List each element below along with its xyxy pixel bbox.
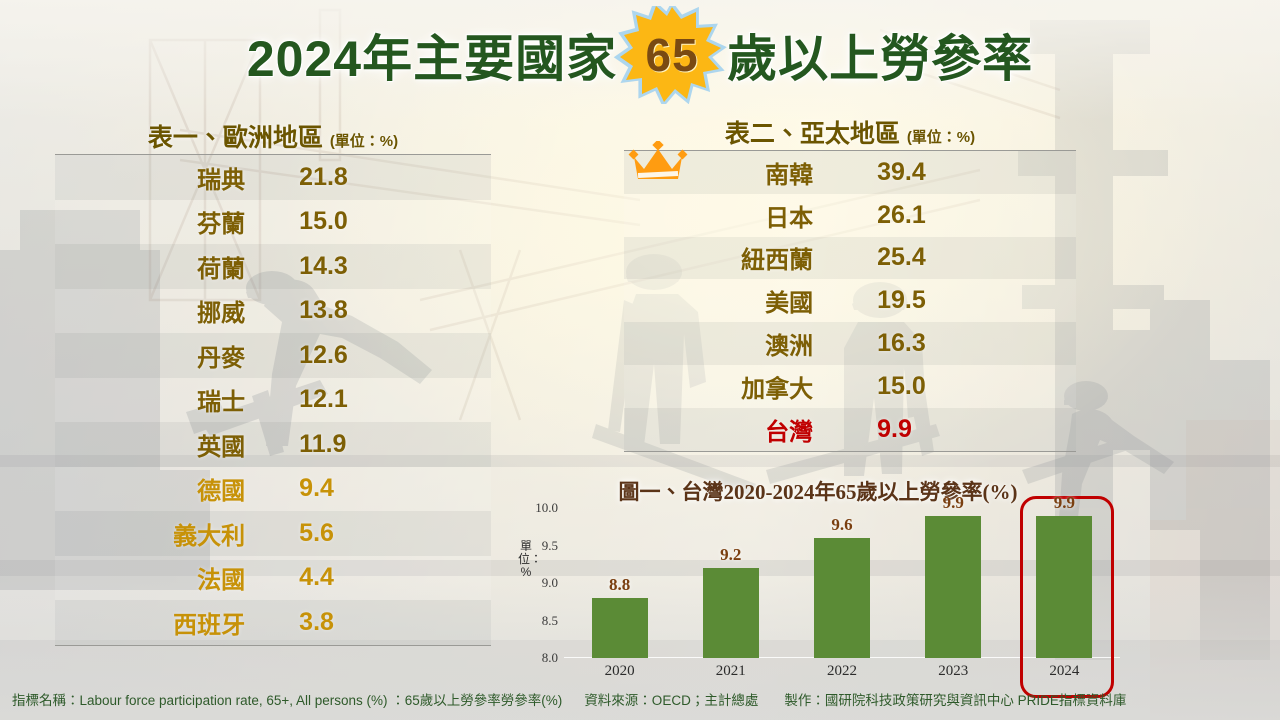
country-value: 16.3 <box>823 329 1076 358</box>
chart-bar <box>592 598 648 658</box>
chart-x-tick: 2023 <box>938 663 968 680</box>
country-name: 英國 <box>55 427 255 462</box>
country-value: 15.0 <box>823 372 1076 401</box>
country-value: 12.6 <box>255 341 491 370</box>
chart-bar-group: 9.92024 <box>1009 508 1120 658</box>
table-row: 台灣9.9 <box>624 408 1076 451</box>
country-value: 19.5 <box>823 286 1076 315</box>
country-name: 義大利 <box>55 516 255 551</box>
table-row: 挪威13.8 <box>55 289 491 334</box>
chart-bar-group: 9.22021 <box>675 508 786 658</box>
table-row: 丹麥12.6 <box>55 333 491 378</box>
table-europe-unit: (單位：%) <box>330 133 398 150</box>
table-asia-title: 表二、亞太地區 (單位：%) <box>624 114 1076 150</box>
chart-bar <box>1036 516 1092 659</box>
chart-x-tick: 2020 <box>605 663 635 680</box>
country-value: 9.4 <box>255 474 491 503</box>
country-value: 26.1 <box>823 201 1076 230</box>
table-row: 法國4.4 <box>55 556 491 601</box>
chart-y-tick: 8.5 <box>542 613 558 629</box>
chart-bar-group: 9.92023 <box>898 508 1009 658</box>
footer-producer: 製作：國研院科技政策研究與資訊中心 PRIDE指標資料庫 <box>784 689 1126 709</box>
country-name: 荷蘭 <box>55 249 255 284</box>
chart-bar <box>703 568 759 658</box>
table-row: 荷蘭14.3 <box>55 244 491 289</box>
country-name: 台灣 <box>624 412 823 447</box>
page-title: 2024年主要國家 65 歲以上勞參率 <box>247 6 1033 104</box>
country-name: 紐西蘭 <box>624 240 823 275</box>
chart-title: 圖一、台灣2020-2024年65歲以上勞參率(%) <box>508 476 1128 506</box>
country-name: 芬蘭 <box>55 204 255 239</box>
table-asia-unit: (單位：%) <box>907 129 975 146</box>
chart-bar-value-label: 9.9 <box>1054 493 1075 513</box>
country-name: 挪威 <box>55 293 255 328</box>
chart-y-tick: 9.5 <box>542 538 558 554</box>
country-value: 9.9 <box>823 415 1076 444</box>
chart-bar-group: 8.82020 <box>564 508 675 658</box>
country-name: 西班牙 <box>55 605 255 640</box>
chart-y-tick: 8.0 <box>542 650 558 666</box>
table-row: 英國11.9 <box>55 422 491 467</box>
footer-indicator: 指標名稱：Labour force participation rate, 65… <box>12 689 562 709</box>
chart-y-axis-label: 單位：% <box>518 540 534 579</box>
chart-plot-area: 8.08.59.09.510.08.820209.220219.620229.9… <box>564 508 1120 658</box>
age-badge-label: 65 <box>613 6 731 104</box>
country-value: 25.4 <box>823 243 1076 272</box>
country-value: 14.3 <box>255 252 491 281</box>
country-name: 德國 <box>55 471 255 506</box>
title-suffix: 歲以上勞參率 <box>727 19 1033 91</box>
country-name: 加拿大 <box>624 369 823 404</box>
country-value: 13.8 <box>255 296 491 325</box>
chart-bar-value-label: 9.9 <box>943 493 964 513</box>
table-europe-title: 表一、歐洲地區 (單位：%) <box>55 118 491 154</box>
title-prefix: 2024年主要國家 <box>247 19 617 91</box>
crown-icon <box>628 141 688 185</box>
country-name: 日本 <box>624 198 823 233</box>
chart-bar-value-label: 8.8 <box>609 575 630 595</box>
table-asia-body: 南韓39.4日本26.1紐西蘭25.4美國19.5澳洲16.3加拿大15.0台灣… <box>624 150 1076 452</box>
table-europe: 表一、歐洲地區 (單位：%) 瑞典21.8芬蘭15.0荷蘭14.3挪威13.8丹… <box>55 118 491 646</box>
chart-x-tick: 2024 <box>1049 663 1079 680</box>
table-row: 澳洲16.3 <box>624 322 1076 365</box>
footer-source: 資料來源：OECD；主計總處 <box>584 689 758 709</box>
chart-x-tick: 2022 <box>827 663 857 680</box>
chart-x-tick: 2021 <box>716 663 746 680</box>
country-value: 21.8 <box>255 163 491 192</box>
table-row: 德國9.4 <box>55 467 491 512</box>
chart-y-tick: 9.0 <box>542 575 558 591</box>
chart-bar-group: 9.62022 <box>786 508 897 658</box>
chart-taiwan-trend: 圖一、台灣2020-2024年65歲以上勞參率(%) 單位：% 8.08.59.… <box>508 478 1128 690</box>
chart-bar <box>814 538 870 658</box>
country-name: 美國 <box>624 283 823 318</box>
country-name: 法國 <box>55 560 255 595</box>
country-value: 15.0 <box>255 207 491 236</box>
chart-bar-value-label: 9.2 <box>720 545 741 565</box>
table-row: 美國19.5 <box>624 279 1076 322</box>
country-value: 4.4 <box>255 563 491 592</box>
title-bar: 2024年主要國家 65 歲以上勞參率 <box>0 14 1280 96</box>
table-europe-title-text: 表一、歐洲地區 <box>148 124 323 152</box>
chart-bar <box>925 516 981 659</box>
table-row: 芬蘭15.0 <box>55 200 491 245</box>
table-row: 義大利5.6 <box>55 511 491 556</box>
chart-bar-value-label: 9.6 <box>831 515 852 535</box>
table-row: 瑞士12.1 <box>55 378 491 423</box>
table-asia-title-text: 表二、亞太地區 <box>725 120 900 148</box>
table-asia: 表二、亞太地區 (單位：%) 南韓39.4日本26.1紐西蘭25.4美國19.5… <box>624 114 1076 452</box>
table-row: 南韓39.4 <box>624 151 1076 194</box>
table-row: 西班牙3.8 <box>55 600 491 645</box>
table-row: 紐西蘭25.4 <box>624 237 1076 280</box>
age-badge: 65 <box>613 6 731 104</box>
country-name: 瑞士 <box>55 382 255 417</box>
country-value: 12.1 <box>255 385 491 414</box>
country-value: 11.9 <box>255 430 491 459</box>
country-value: 3.8 <box>255 608 491 637</box>
footer: 指標名稱：Labour force participation rate, 65… <box>0 688 1280 710</box>
table-row: 瑞典21.8 <box>55 155 491 200</box>
chart-y-tick: 10.0 <box>535 500 558 516</box>
country-name: 丹麥 <box>55 338 255 373</box>
table-row: 日本26.1 <box>624 194 1076 237</box>
country-value: 5.6 <box>255 519 491 548</box>
country-value: 39.4 <box>823 158 1076 187</box>
country-name: 瑞典 <box>55 160 255 195</box>
table-europe-body: 瑞典21.8芬蘭15.0荷蘭14.3挪威13.8丹麥12.6瑞士12.1英國11… <box>55 154 491 646</box>
table-row: 加拿大15.0 <box>624 365 1076 408</box>
country-name: 澳洲 <box>624 326 823 361</box>
